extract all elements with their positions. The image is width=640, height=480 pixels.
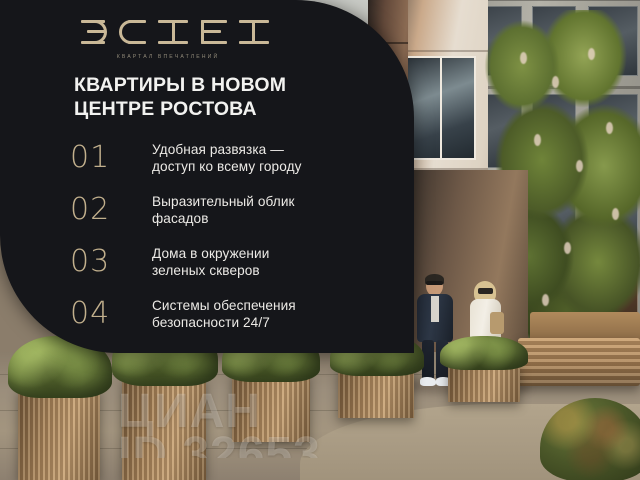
feature-number: 02 [70, 195, 132, 225]
feature-text-line-2: безопасности 24/7 [152, 314, 296, 331]
feature-text: Системы обеспечения безопасности 24/7 [152, 297, 296, 332]
feature-text-line-1: Системы обеспечения [152, 297, 296, 314]
page-title: КВАРТИРЫ В НОВОМ ЦЕНТРЕ РОСТОВА [74, 74, 374, 122]
feature-text-line-1: Дома в окружении [152, 245, 269, 262]
feature-item-01: 01 Удобная развязка — доступ ко всему го… [70, 132, 400, 184]
logo-letter-t2-icon [239, 18, 268, 46]
brand-logo[interactable]: КВАРТАЛ ВПЕЧАТЛЕНИЙ [78, 16, 268, 60]
dark-content-panel: КВАРТАЛ ВПЕЧАТЛЕНИЙ КВАРТИРЫ В НОВОМ ЦЕН… [0, 0, 414, 353]
feature-item-04: 04 Системы обеспечения безопасности 24/7 [70, 288, 400, 340]
feature-text-line-2: доступ ко всему городу [152, 158, 302, 175]
logo-letter-t-icon [158, 18, 187, 46]
planter-box [18, 388, 100, 480]
feature-text: Удобная развязка — доступ ко всему город… [152, 141, 302, 176]
feature-text-line-2: фасадов [152, 210, 295, 227]
logo-letter-s-icon [118, 18, 147, 46]
logo-wordmark [78, 16, 268, 46]
watermark-id: ID 32653 [118, 431, 638, 458]
feature-item-02: 02 Выразительный облик фасадов [70, 184, 400, 236]
headline-line-1: КВАРТИРЫ В НОВОМ [74, 74, 374, 98]
feature-text-line-1: Выразительный облик [152, 193, 295, 210]
feature-text-line-2: зеленых скверов [152, 262, 269, 279]
advertisement-banner: КВАРТАЛ ВПЕЧАТЛЕНИЙ КВАРТИРЫ В НОВОМ ЦЕН… [0, 0, 640, 480]
brand-tagline: КВАРТАЛ ВПЕЧАТЛЕНИЙ [78, 54, 258, 60]
logo-letter-ye-icon [199, 18, 228, 46]
feature-number: 03 [70, 247, 132, 277]
feature-number: 04 [70, 299, 132, 329]
feature-text: Выразительный облик фасадов [152, 193, 295, 228]
headline-line-2: ЦЕНТРЕ РОСТОВА [74, 98, 374, 122]
feature-list: 01 Удобная развязка — доступ ко всему го… [70, 132, 400, 340]
feature-number: 01 [70, 143, 132, 173]
logo-letter-e-icon [78, 18, 107, 46]
feature-text-line-1: Удобная развязка — [152, 141, 302, 158]
watermark: ЦИАН ID 32653 [118, 388, 638, 458]
bench [518, 338, 640, 386]
feature-item-03: 03 Дома в окружении зеленых скверов [70, 236, 400, 288]
hedge-shrub [440, 336, 528, 370]
feature-text: Дома в окружении зеленых скверов [152, 245, 269, 280]
